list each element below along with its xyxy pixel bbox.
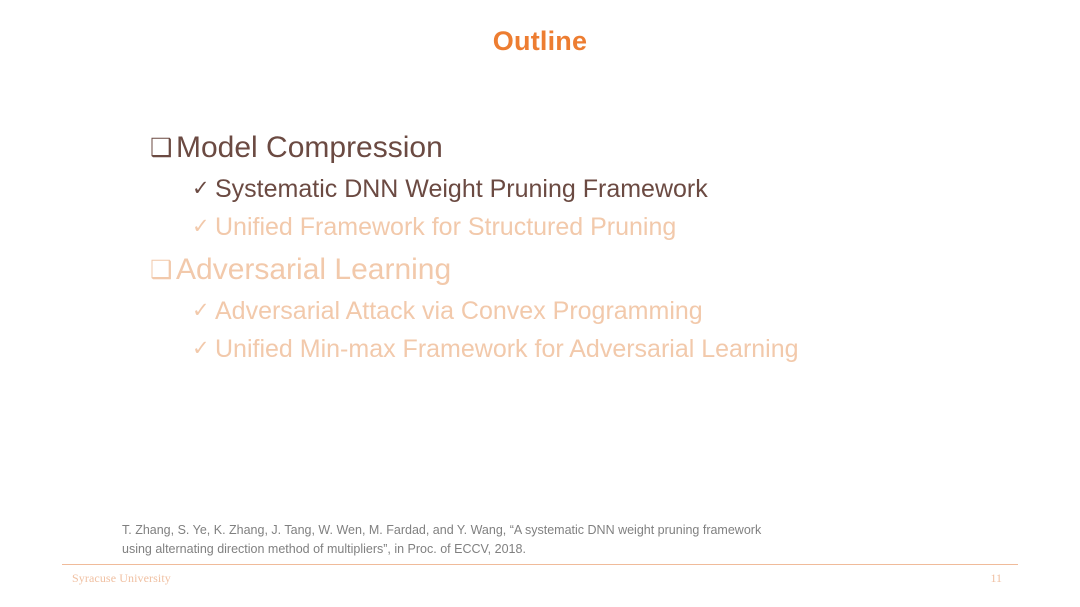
outline-subitem-label: Systematic DNN Weight Pruning Framework [215, 170, 708, 208]
citation-reference: T. Zhang, S. Ye, K. Zhang, J. Tang, W. W… [122, 521, 952, 559]
square-bullet-icon: ❑ [150, 250, 176, 290]
outline-group: ❑ Adversarial Learning ✓ Adversarial Att… [150, 250, 1030, 368]
outline-subitem-unified-framework-for-structured-pruning[interactable]: ✓ Unified Framework for Structured Pruni… [192, 208, 1030, 246]
footer-divider [62, 564, 1018, 565]
citation-line-1: T. Zhang, S. Ye, K. Zhang, J. Tang, W. W… [122, 521, 952, 540]
check-icon: ✓ [192, 170, 215, 208]
outline-item-model-compression[interactable]: ❑ Model Compression [150, 128, 1030, 168]
check-icon: ✓ [192, 208, 215, 246]
outline-subitem-label: Unified Framework for Structured Pruning [215, 208, 676, 246]
footer-organization: Syracuse University [72, 571, 171, 586]
citation-line-2: using alternating direction method of mu… [122, 540, 952, 559]
outline-group: ❑ Model Compression ✓ Systematic DNN Wei… [150, 128, 1030, 246]
outline-item-label: Adversarial Learning [176, 250, 451, 290]
outline-subitem-unified-min-max-framework-for-adversarial-learning[interactable]: ✓ Unified Min-max Framework for Adversar… [192, 330, 1030, 368]
outline-list: ❑ Model Compression ✓ Systematic DNN Wei… [150, 128, 1030, 372]
outline-subitem-label: Adversarial Attack via Convex Programmin… [215, 292, 703, 330]
outline-item-adversarial-learning[interactable]: ❑ Adversarial Learning [150, 250, 1030, 290]
check-icon: ✓ [192, 330, 215, 368]
outline-subitem-systematic-dnn-weight-pruning-framework[interactable]: ✓ Systematic DNN Weight Pruning Framewor… [192, 170, 1030, 208]
outline-subitem-label: Unified Min-max Framework for Adversaria… [215, 330, 799, 368]
outline-subitem-adversarial-attack-via-convex-programming[interactable]: ✓ Adversarial Attack via Convex Programm… [192, 292, 1030, 330]
presentation-slide: Outline ❑ Model Compression ✓ Systematic… [0, 0, 1080, 607]
square-bullet-icon: ❑ [150, 128, 176, 168]
footer-page-number: 11 [990, 571, 1002, 586]
page-title: Outline [0, 26, 1080, 57]
outline-item-label: Model Compression [176, 128, 443, 168]
check-icon: ✓ [192, 292, 215, 330]
